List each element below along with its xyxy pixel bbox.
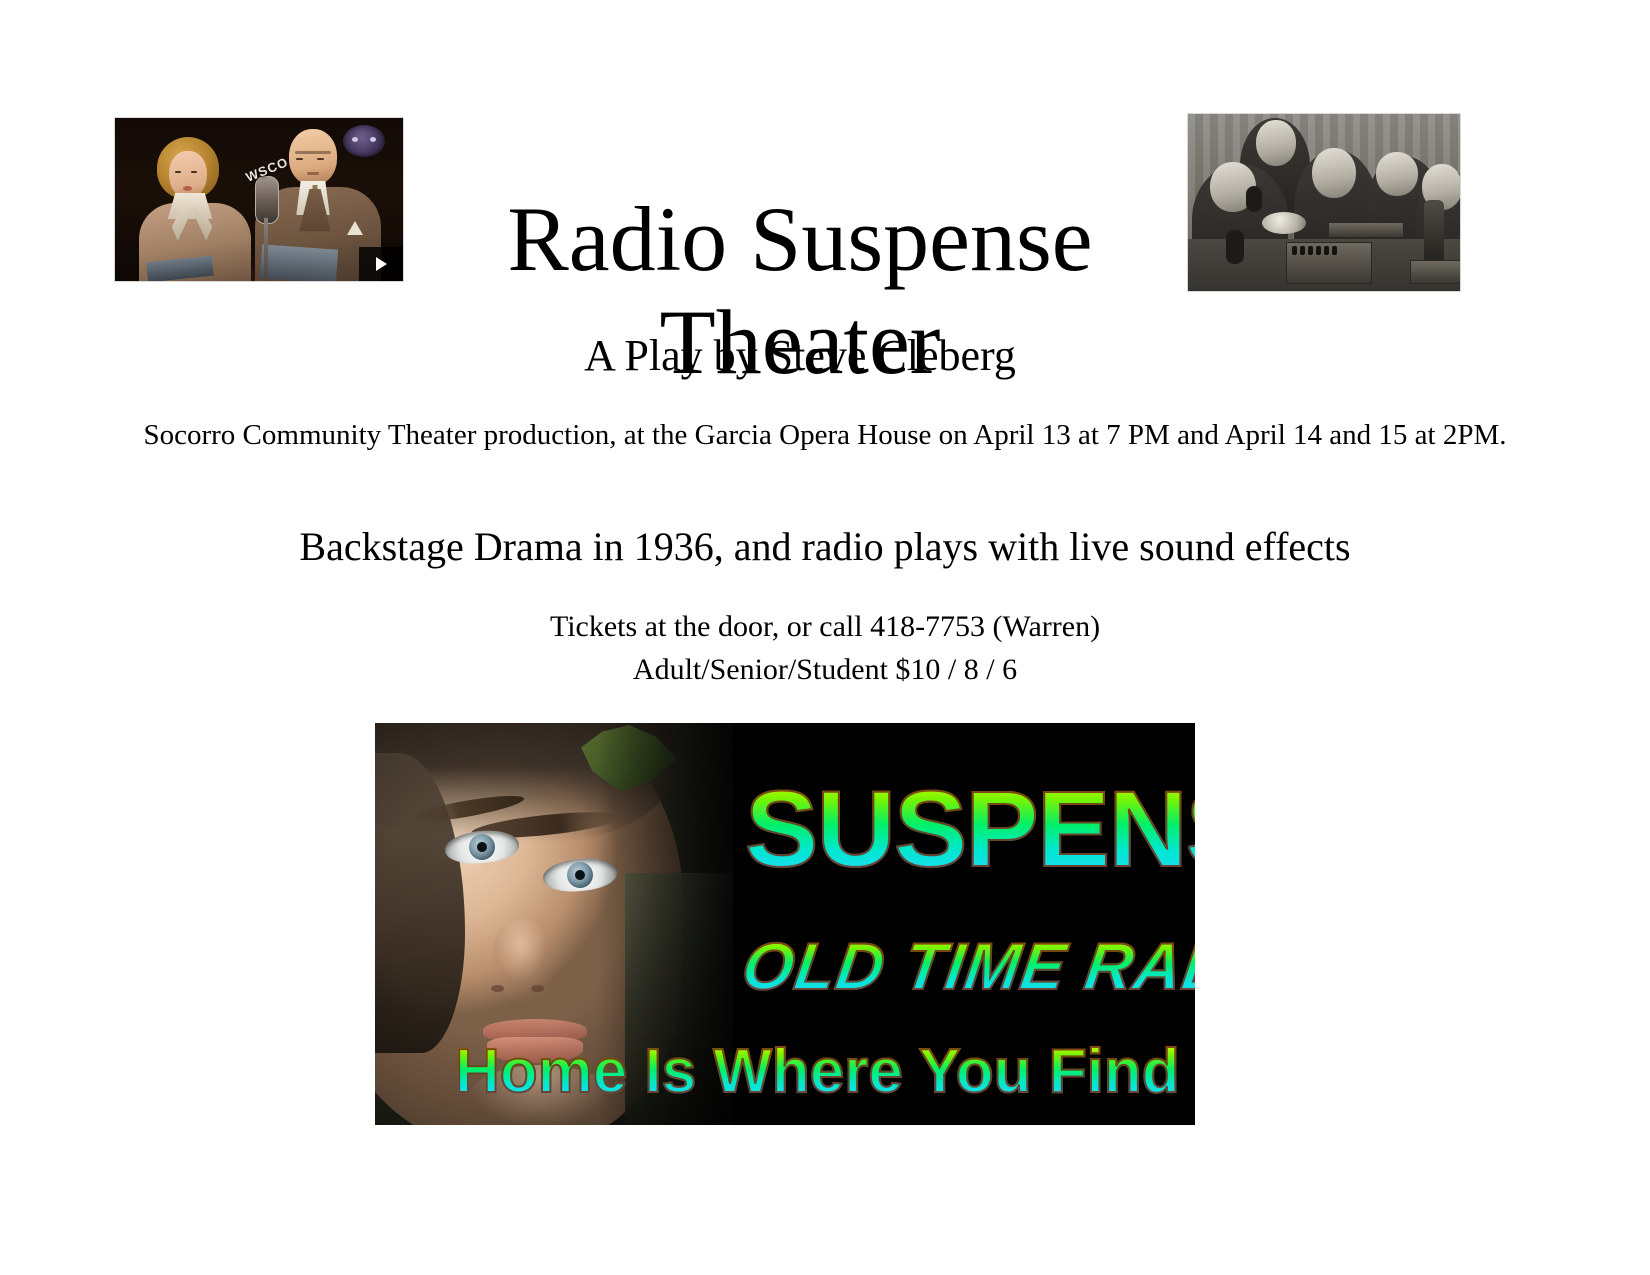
key-rail-prop [1328, 222, 1404, 238]
play-icon [376, 257, 387, 271]
radio-sound-effects-crew-photo [1188, 114, 1460, 291]
equipment-tray-prop [1410, 260, 1460, 284]
ticket-info: Tickets at the door, or call 418-7753 (W… [100, 606, 1550, 691]
play-button[interactable] [359, 247, 403, 281]
subtitle: A Play by Steve Cleberg [420, 330, 1180, 383]
production-details: Socorro Community Theater production, at… [100, 415, 1550, 455]
vintage-microphone-icon: WSCO [253, 160, 279, 280]
cymbal-prop [1262, 212, 1306, 234]
poster-episode-title: Home Is Where You Find It [455, 1041, 1195, 1103]
ticket-price-line: Adult/Senior/Student $10 / 8 / 6 [100, 649, 1550, 692]
tagline: Backstage Drama in 1936, and radio plays… [100, 522, 1550, 572]
suspense-old-time-radio-poster: SUSPENSE OLD TIME RADIO Home Is Where Yo… [375, 723, 1195, 1125]
ticket-phone-line: Tickets at the door, or call 418-7753 (W… [100, 606, 1550, 649]
telephone-receiver-prop [1246, 186, 1262, 212]
actress-figure [139, 131, 251, 281]
actors-at-microphone-photo[interactable]: WSCO [115, 118, 403, 281]
telephone-handset-prop [1226, 230, 1244, 264]
poster-title: SUSPENSE [745, 775, 1195, 883]
poster-text-layer: SUSPENSE OLD TIME RADIO Home Is Where Yo… [375, 723, 1195, 1125]
header-row: WSCO [0, 0, 1650, 330]
flyer-page: WSCO [0, 0, 1650, 1275]
studio-microphone-prop [1424, 200, 1444, 262]
poster-subtitle: OLD TIME RADIO [738, 933, 1195, 999]
